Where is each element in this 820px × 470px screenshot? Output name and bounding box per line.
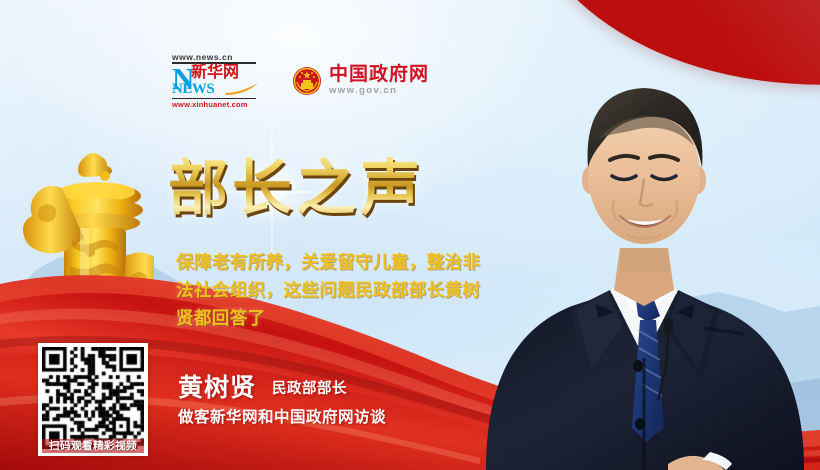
gov-url: www.gov.cn — [329, 85, 429, 97]
gov-logo[interactable]: 中国政府网 www.gov.cn — [292, 64, 429, 97]
guest-portrait-icon — [468, 28, 820, 470]
huabiao-pillar-icon — [2, 148, 154, 363]
guest-info: 黄树贤 民政部部长 做客新华网和中国政府网访谈 — [178, 374, 478, 428]
gov-name-cn: 中国政府网 — [329, 64, 429, 85]
logo-row: www.news.cn N 新华网 NEWS www.xinhuanet.com — [172, 52, 429, 109]
qr-caption: 扫码观看精彩视频 — [42, 439, 144, 453]
xinhua-swoosh-icon — [224, 82, 260, 96]
main-title: 部长之声 — [168, 152, 488, 234]
guest-role: 民政部部长 — [272, 379, 347, 402]
xinhua-name-cn: 新华网 — [191, 64, 239, 81]
description-text: 保障老有所养，关爱留守儿童，整治非法社会组织，这些问题民政部部长黄树贤都回答了 — [176, 248, 494, 332]
qr-code-canvas[interactable] — [42, 347, 144, 449]
guest-name: 黄树贤 — [178, 374, 256, 402]
xinhua-bottom-url: www.xinhuanet.com — [172, 98, 256, 109]
page-title: 部长之声 — [168, 152, 488, 226]
xinhua-news-word: NEWS — [172, 81, 214, 97]
china-national-emblem-icon — [292, 66, 322, 96]
banner-root: www.news.cn N 新华网 NEWS www.xinhuanet.com — [0, 0, 820, 470]
xinhua-logo[interactable]: www.news.cn N 新华网 NEWS www.xinhuanet.com — [172, 52, 272, 109]
guest-subtitle: 做客新华网和中国政府网访谈 — [178, 408, 478, 428]
qr-code-icon[interactable]: 扫码观看精彩视频 — [38, 343, 148, 456]
